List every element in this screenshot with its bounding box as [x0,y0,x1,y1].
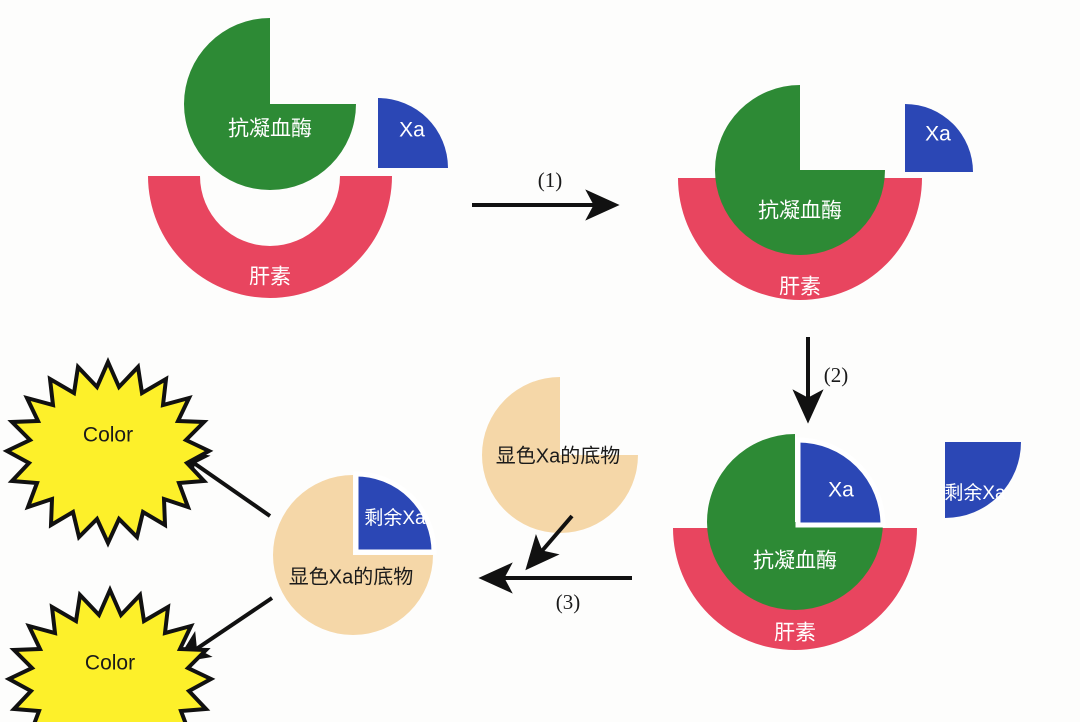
heparin-anti-xa-diagram: 抗凝血酶 Xa 肝素 (1) 抗凝血酶 肝素 Xa [0,0,1080,722]
group-2-heparin-antithrombin-complex: 抗凝血酶 肝素 Xa [678,85,973,300]
diagram-canvas: 抗凝血酶 Xa 肝素 (1) 抗凝血酶 肝素 Xa [0,0,1080,722]
color-burst-top [7,362,209,543]
step-1-arrow: (1) [472,168,614,205]
step-3-label: (3) [556,590,581,614]
color-burst-bottom [9,590,211,722]
step-3-arrow: (3) [484,578,632,614]
factor-xa-quarter-2 [905,104,973,172]
residual-xa-quarter-5 [356,474,434,552]
step-2-arrow: (2) [808,337,848,418]
antithrombin-notched-circle-1 [184,18,356,190]
group-4-free-chromogenic-substrate: 显色Xa的底物 [482,377,638,566]
residual-xa-quarter-3 [945,442,1021,518]
antithrombin-notched-circle-2 [715,85,885,255]
substrate-notched-circle-4 [482,377,638,533]
group-1-reagents-separate: 抗凝血酶 Xa 肝素 [148,18,448,298]
group-6-color-outputs: Color Color [7,362,272,722]
step-2-label: (2) [824,363,849,387]
factor-xa-bound-quarter-3 [798,440,883,525]
group-5-substrate-residual-xa-complex: 剩余Xa 显色Xa的底物 [273,474,434,635]
factor-xa-quarter-1 [378,98,448,168]
heparin-half-ring-1 [148,176,392,298]
group-3-xa-bound-plus-residual: 抗凝血酶 肝素 Xa 剩余Xa [673,434,1021,650]
step-1-label: (1) [538,168,563,192]
